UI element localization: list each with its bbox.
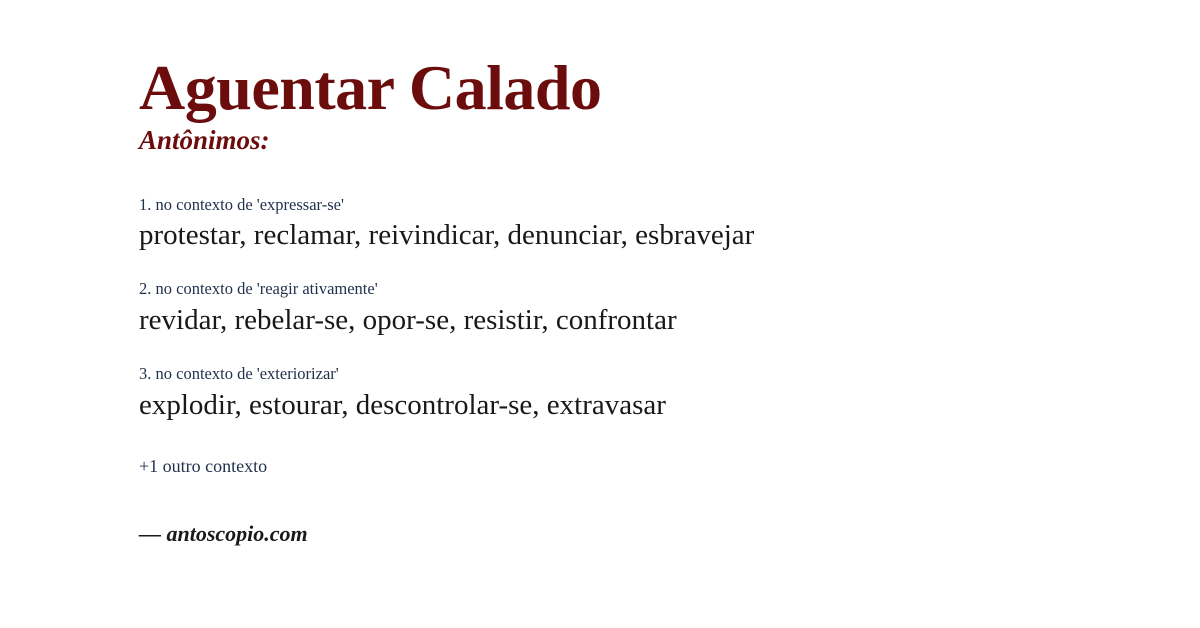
sense-list: 1. no contexto de 'expressar-se' protest…: [139, 195, 1140, 424]
sense-entry: 2. no contexto de 'reagir ativamente' re…: [139, 279, 1140, 339]
sense-word-list: explodir, estourar, descontrolar-se, ext…: [139, 387, 1140, 424]
sense-entry: 1. no contexto de 'expressar-se' protest…: [139, 195, 1140, 255]
sense-word-list: revidar, rebelar-se, opor-se, resistir, …: [139, 302, 1140, 339]
source-attribution: — antoscopio.com: [139, 521, 1140, 547]
sense-context-label: 3. no contexto de 'exteriorizar': [139, 364, 1140, 385]
sense-word-list: protestar, reclamar, reivindicar, denunc…: [139, 217, 1140, 254]
section-label-antonyms: Antônimos:: [139, 126, 1140, 156]
card-header: Aguentar Calado Antônimos:: [139, 0, 1140, 156]
antonym-card: Aguentar Calado Antônimos: 1. no context…: [0, 0, 1200, 628]
sense-context-label: 1. no contexto de 'expressar-se': [139, 195, 1140, 216]
more-contexts-note: +1 outro contexto: [139, 456, 1140, 478]
page-title: Aguentar Calado: [139, 56, 1140, 120]
sense-context-label: 2. no contexto de 'reagir ativamente': [139, 279, 1140, 300]
sense-entry: 3. no contexto de 'exteriorizar' explodi…: [139, 364, 1140, 424]
